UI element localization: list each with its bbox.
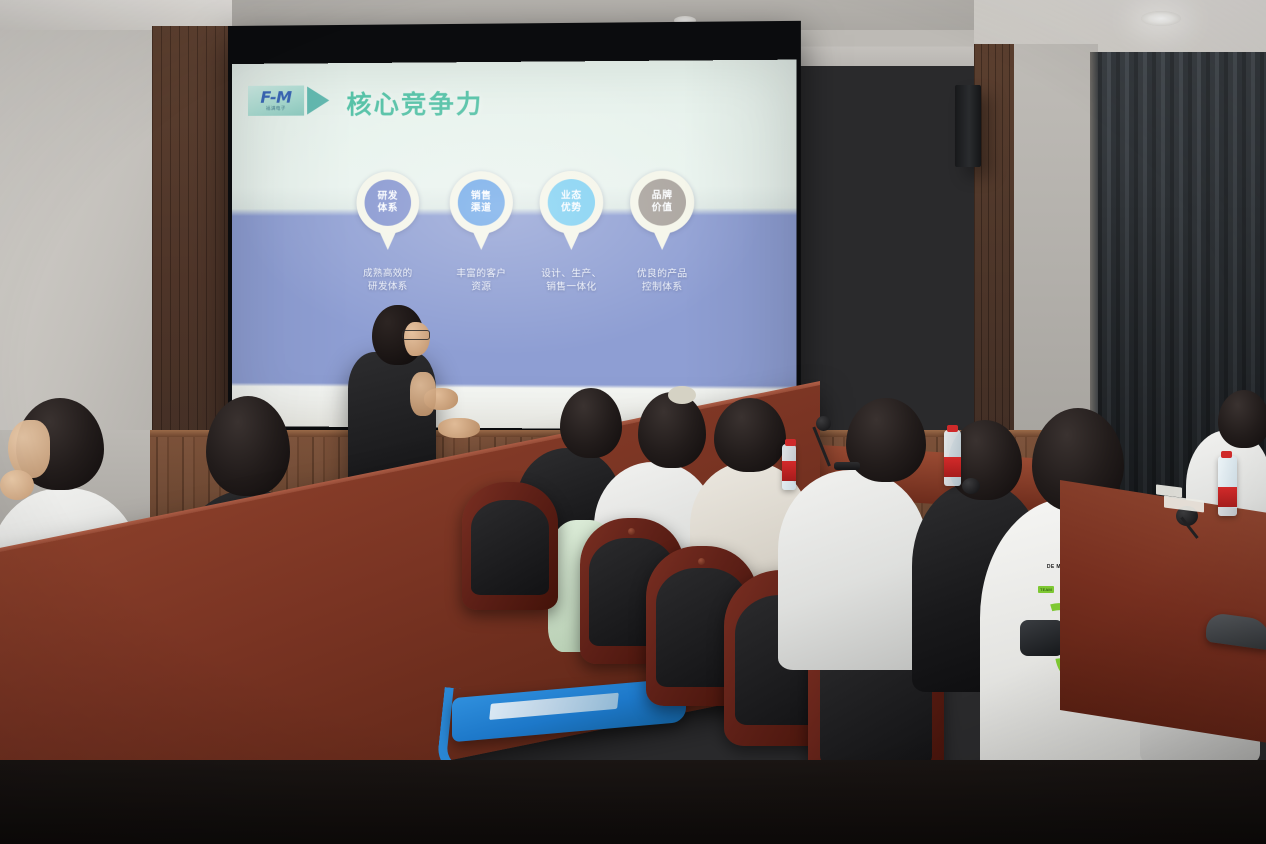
projected-slide: F-M 福满电子 核心竞争力 研发 体系 成熟高效的 研发体系: [232, 60, 797, 431]
attendee-head: [560, 388, 622, 458]
pillar-tail: [653, 230, 672, 250]
ceiling-light-icon: [1141, 11, 1181, 26]
pillar-label-line1: 销售: [471, 190, 492, 202]
pillar-caption-line1: 设计、生产、: [529, 268, 613, 281]
slide-title: 核心竞争力: [346, 84, 483, 121]
attendee-torso: [778, 470, 928, 670]
attendee-hand: [0, 470, 34, 500]
pillar-label-line2: 价值: [652, 202, 673, 214]
pillar-caption: 丰富的客户 资源: [440, 268, 524, 293]
pillar-tail: [472, 230, 490, 250]
attendee-head: [714, 398, 786, 472]
tee-badge: TEAM: [1038, 586, 1054, 593]
water-bottle: [782, 444, 796, 490]
attendee-head: [206, 396, 290, 496]
pillar-inner: 销售 渠道: [458, 179, 505, 226]
bag-strap: [1020, 620, 1064, 656]
bottle-label: [1218, 487, 1237, 507]
hair-clip: [668, 386, 696, 404]
pillar-item: 品牌 价值 优良的产品 控制体系: [630, 171, 694, 234]
pillar-item: 研发 体系 成熟高效的 研发体系: [356, 171, 419, 234]
chair: [462, 482, 558, 610]
pillar-caption-line2: 研发体系: [346, 281, 429, 294]
bottle-cap: [785, 439, 796, 446]
pillar-caption-line2: 控制体系: [620, 281, 705, 294]
pillar-caption-line1: 成熟高效的: [346, 268, 429, 281]
pillar-tail: [379, 230, 397, 250]
mic-base: [834, 462, 860, 470]
slide-logo: F-M 福满电子: [248, 85, 334, 116]
pillar-label-line1: 品牌: [652, 190, 673, 202]
logo-mark-text: F-M: [260, 90, 291, 106]
pillar-bubble: 品牌 价值: [630, 171, 694, 234]
floor: [0, 760, 1266, 844]
wall-speaker-icon: [955, 85, 981, 167]
pillar-bubble: 业态 优势: [540, 171, 604, 234]
pillar-label-line2: 体系: [378, 203, 398, 215]
pillar-caption: 成熟高效的 研发体系: [346, 268, 429, 293]
chair-back: [462, 482, 558, 610]
pillar-label-line1: 业态: [561, 190, 582, 202]
logo-badge: F-M 福满电子: [248, 86, 304, 116]
pillar-caption: 优良的产品 控制体系: [620, 268, 705, 294]
water-bottle: [944, 430, 961, 486]
bottle-label: [944, 457, 961, 477]
pillar-bubble: 研发 体系: [356, 171, 419, 234]
pillar-bubble: 销售 渠道: [450, 171, 513, 234]
attendee-head: [1218, 390, 1266, 448]
pillar-inner: 品牌 价值: [638, 179, 686, 226]
mic-head-icon: [816, 416, 831, 431]
pillar-label-line2: 渠道: [471, 203, 492, 215]
attendee-head: [638, 392, 706, 468]
water-bottle: [1218, 456, 1237, 516]
bottle-cap: [1221, 451, 1232, 458]
arrow-right-icon: [307, 86, 329, 114]
presenter-hand-right: [438, 418, 480, 438]
pillar-item: 销售 渠道 丰富的客户 资源: [450, 171, 513, 234]
pillar-caption-line2: 销售一体化: [529, 281, 613, 294]
tote-bag-contents: [489, 693, 619, 720]
pillar-label-line1: 研发: [378, 191, 398, 203]
pillar-tail: [562, 230, 581, 250]
pillar-inner: 研发 体系: [365, 179, 412, 225]
pillar-caption-line1: 丰富的客户: [440, 268, 524, 281]
presenter-forearm: [410, 372, 436, 416]
chair-knob: [698, 558, 705, 565]
chair-pad: [471, 500, 550, 595]
slide-pillars: 研发 体系 成熟高效的 研发体系 销售 渠道: [232, 170, 797, 297]
pillar-inner: 业态 优势: [548, 179, 595, 226]
pillar-caption: 设计、生产、 销售一体化: [529, 268, 613, 293]
pillar-caption-line2: 资源: [440, 281, 524, 294]
conference-room-photo: F-M 福满电子 核心竞争力 研发 体系 成熟高效的 研发体系: [0, 0, 1266, 844]
bottle-cap: [947, 425, 958, 432]
mic-head-icon: [962, 478, 980, 494]
glasses-icon: [402, 330, 430, 340]
logo-subtext: 福满电子: [266, 107, 286, 112]
bottle-label: [782, 461, 796, 481]
chair-knob: [628, 528, 635, 535]
pillar-item: 业态 优势 设计、生产、 销售一体化: [540, 171, 604, 234]
pillar-label-line2: 优势: [561, 202, 582, 214]
pillar-caption-line1: 优良的产品: [620, 268, 705, 281]
